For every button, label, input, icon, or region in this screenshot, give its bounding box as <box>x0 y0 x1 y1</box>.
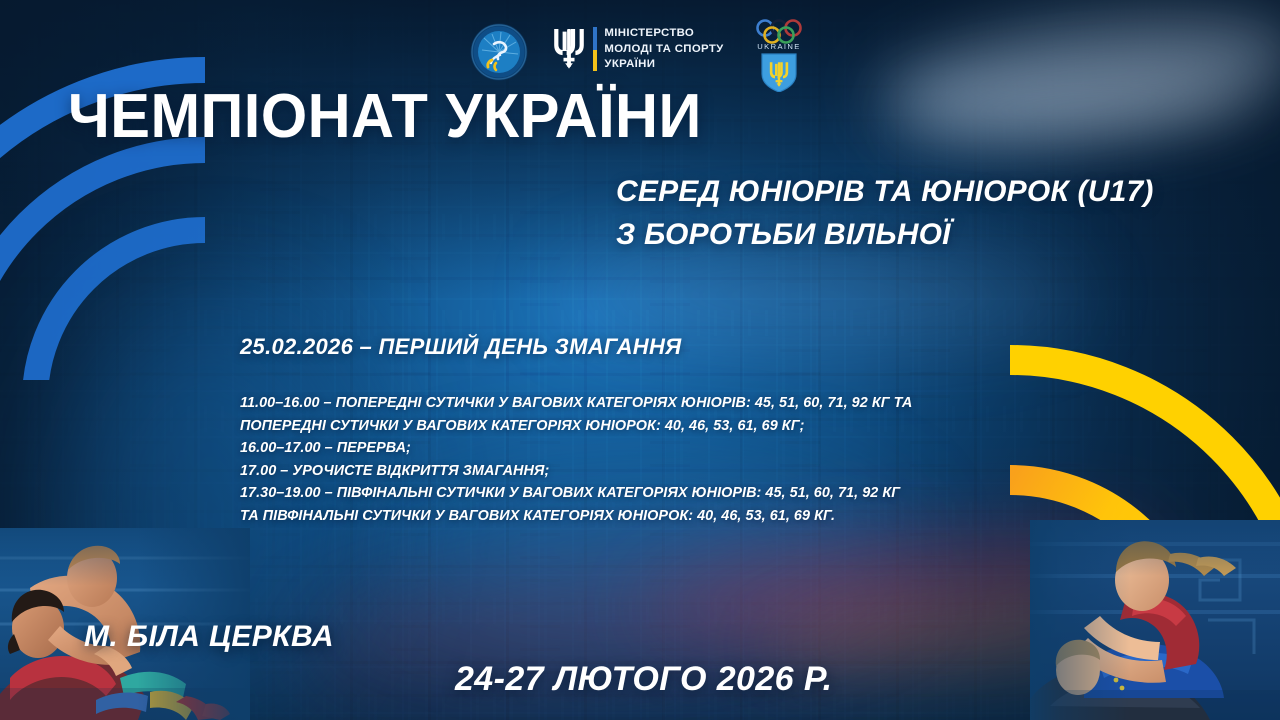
event-dates: 24-27 ЛЮТОГО 2026 Р. <box>455 660 833 699</box>
ukraine-trident-icon <box>552 25 586 71</box>
schedule-entry: 17.00 – УРОЧИСТЕ ВІДКРИТТЯ ЗМАГАННЯ; <box>240 460 912 483</box>
ministry-line-2: МОЛОДІ ТА СПОРТУ <box>604 42 723 57</box>
subtitle-block: СЕРЕД ЮНІОРІВ ТА ЮНІОРОК (U17) З БОРОТЬБ… <box>616 171 1154 256</box>
wrestling-federation-emblem <box>470 22 528 82</box>
ministry-flag-divider <box>593 27 597 71</box>
ministry-line-3: УКРАЇНИ <box>604 57 723 72</box>
ministry-logo: МІНІСТЕРСТВО МОЛОДІ ТА СПОРТУ УКРАЇНИ <box>552 22 723 72</box>
schedule-entry: 17.30–19.00 – ПІВФІНАЛЬНІ СУТИЧКИ У ВАГО… <box>240 482 912 505</box>
venue-city: М. БІЛА ЦЕРКВА <box>84 620 334 654</box>
olympic-rings-icon: UKRAINE <box>748 18 810 92</box>
schedule-entry: 11.00–16.00 – ПОПЕРЕДНІ СУТИЧКИ У ВАГОВИ… <box>240 392 912 415</box>
noc-label: UKRAINE <box>757 42 801 51</box>
subtitle-line-2: З БОРОТЬБИ ВІЛЬНОЇ <box>616 214 1154 257</box>
page-title: ЧЕМПІОНАТ УКРАЇНИ <box>68 86 702 148</box>
schedule-entry: ТА ПІВФІНАЛЬНІ СУТИЧКИ У ВАГОВИХ КАТЕГОР… <box>240 505 912 528</box>
ministry-line-1: МІНІСТЕРСТВО <box>604 26 723 41</box>
championship-poster: МІНІСТЕРСТВО МОЛОДІ ТА СПОРТУ УКРАЇНИ UK… <box>0 0 1280 720</box>
female-wrestlers-photo <box>1030 520 1280 720</box>
competition-day-heading: 25.02.2026 – ПЕРШИЙ ДЕНЬ ЗМАГАННЯ <box>240 334 682 360</box>
subtitle-line-1: СЕРЕД ЮНІОРІВ ТА ЮНІОРОК (U17) <box>616 171 1154 214</box>
schedule-entry: ПОПЕРЕДНІ СУТИЧКИ У ВАГОВИХ КАТЕГОРІЯХ Ю… <box>240 415 912 438</box>
schedule-entry: 16.00–17.00 – ПЕРЕРВА; <box>240 437 912 460</box>
schedule-list: 11.00–16.00 – ПОПЕРЕДНІ СУТИЧКИ У ВАГОВИ… <box>240 392 912 528</box>
ministry-name: МІНІСТЕРСТВО МОЛОДІ ТА СПОРТУ УКРАЇНИ <box>604 26 723 72</box>
